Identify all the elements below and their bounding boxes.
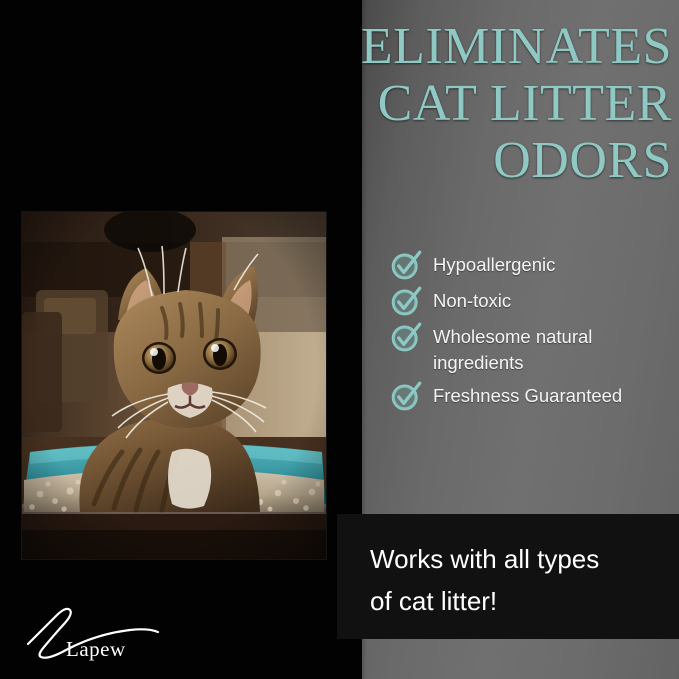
benefit-item: Hypoallergenic bbox=[391, 252, 671, 281]
callout-line-1: Works with all types bbox=[370, 538, 660, 580]
check-circle-icon bbox=[391, 286, 422, 317]
check-circle-icon bbox=[391, 250, 422, 281]
benefit-item: Non-toxic bbox=[391, 288, 671, 317]
brand-logo: Lapew bbox=[26, 600, 166, 662]
benefit-label: Hypoallergenic bbox=[433, 252, 555, 278]
check-circle-icon bbox=[391, 381, 422, 412]
product-ad-image: ELIMINATES CAT LITTER ODORS bbox=[0, 0, 679, 679]
benefit-label: Freshness Guaranteed bbox=[433, 383, 622, 409]
brand-name: Lapew bbox=[66, 637, 126, 661]
benefit-label: Non-toxic bbox=[433, 288, 511, 314]
callout-panel: Works with all types of cat litter! bbox=[337, 514, 679, 639]
check-circle-icon bbox=[391, 322, 422, 353]
kitten-litter-box-photo bbox=[22, 212, 326, 559]
headline-line-1: ELIMINATES bbox=[150, 18, 672, 75]
callout-line-2: of cat litter! bbox=[370, 580, 660, 622]
callout-text: Works with all types of cat litter! bbox=[370, 538, 660, 622]
benefit-label: Wholesome natural ingredients bbox=[433, 324, 671, 376]
benefits-list: Hypoallergenic Non-toxic Wholesome n bbox=[391, 252, 671, 412]
benefit-item: Freshness Guaranteed bbox=[391, 383, 671, 412]
headline: ELIMINATES CAT LITTER ODORS bbox=[150, 18, 672, 189]
headline-line-3: ODORS bbox=[150, 132, 672, 189]
benefit-item: Wholesome natural ingredients bbox=[391, 324, 671, 376]
headline-line-2: CAT LITTER bbox=[150, 75, 672, 132]
